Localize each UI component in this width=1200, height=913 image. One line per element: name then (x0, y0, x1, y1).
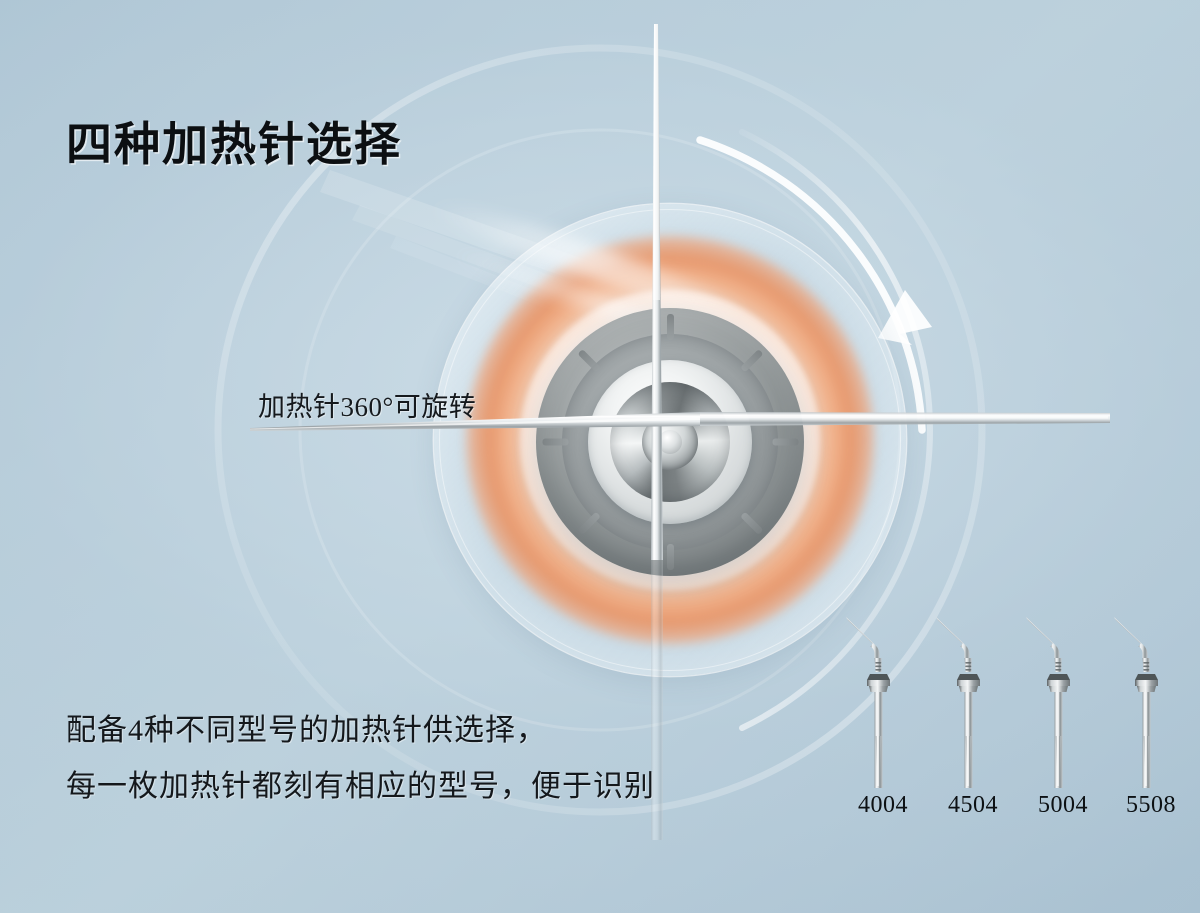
needle-lineup: 4004 4504 (846, 606, 1186, 836)
rotation-callout-label: 加热针360°可旋转 (258, 385, 476, 424)
heating-needle-icon (1114, 606, 1188, 806)
needle-item-0[interactable]: 4004 (846, 606, 920, 836)
page-title: 四种加热针选择 (66, 108, 402, 174)
device-center-pin (658, 430, 682, 454)
heating-handpiece-device[interactable] (536, 308, 804, 576)
poster-canvas: 四种加热针选择 加热针360°可旋转 配备4种不同型号的加热针供选择， 每一枚加… (0, 0, 1200, 913)
needle-model-label: 4004 (846, 792, 920, 819)
heating-needle-icon (936, 606, 1010, 806)
needle-item-3[interactable]: 5508 (1114, 606, 1188, 836)
needle-item-2[interactable]: 5004 (1026, 606, 1100, 836)
needle-item-1[interactable]: 4504 (936, 606, 1010, 836)
description-line-1: 配备4种不同型号的加热针供选择， (66, 716, 655, 746)
heating-needle-icon (846, 606, 920, 806)
needle-model-label: 5508 (1114, 792, 1188, 819)
description-block: 配备4种不同型号的加热针供选择， 每一枚加热针都刻有相应的型号，便于识别 (66, 716, 655, 802)
needle-model-label: 4504 (936, 792, 1010, 819)
needle-model-label: 5004 (1026, 792, 1100, 819)
description-line-2: 每一枚加热针都刻有相应的型号，便于识别 (66, 772, 655, 802)
heating-needle-icon (1026, 606, 1100, 806)
